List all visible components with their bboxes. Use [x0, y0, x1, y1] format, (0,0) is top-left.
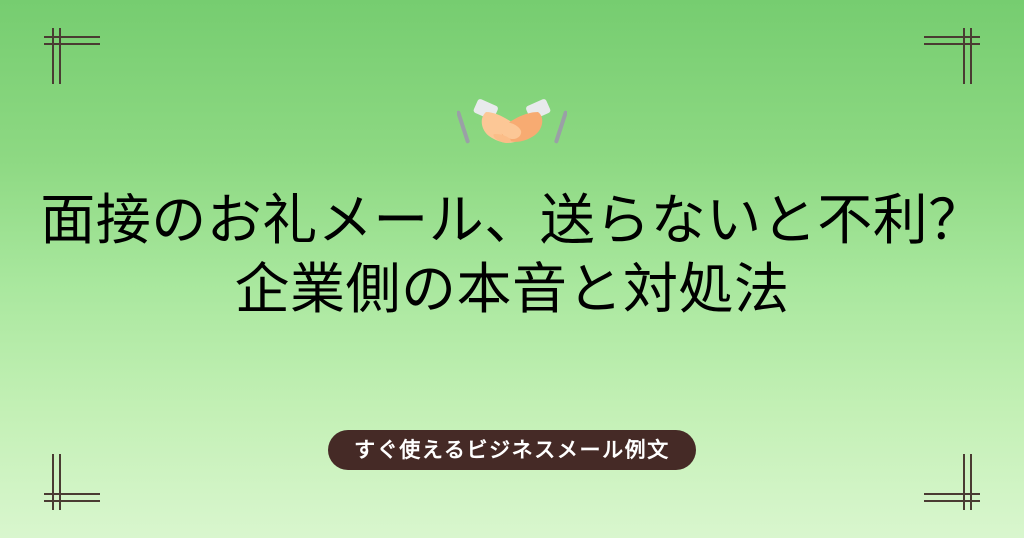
page-title: 面接のお礼メール、送らないと不利？ 企業側の本音と対処法: [0, 186, 1024, 325]
page-title-line-1: 面接のお礼メール、送らないと不利？: [0, 186, 1024, 255]
corner-line-vertical-inner: [963, 28, 965, 84]
handshake-emoji: [457, 92, 567, 154]
corner-bracket-top-right: [920, 28, 980, 88]
status-badge: すぐ使えるビジネスメール例文: [328, 430, 696, 470]
eyecatch-canvas: 面接のお礼メール、送らないと不利？ 企業側の本音と対処法 すぐ使えるビジネスメー…: [0, 0, 1024, 538]
corner-line-vertical-outer: [970, 28, 972, 84]
corner-line-vertical-inner: [59, 28, 61, 84]
handshake-emoji-container: [0, 92, 1024, 154]
corner-line-vertical-outer: [52, 28, 54, 84]
corner-bracket-top-left: [44, 28, 104, 88]
badge-container: すぐ使えるビジネスメール例文: [0, 430, 1024, 470]
page-title-line-2: 企業側の本音と対処法: [0, 255, 1024, 324]
